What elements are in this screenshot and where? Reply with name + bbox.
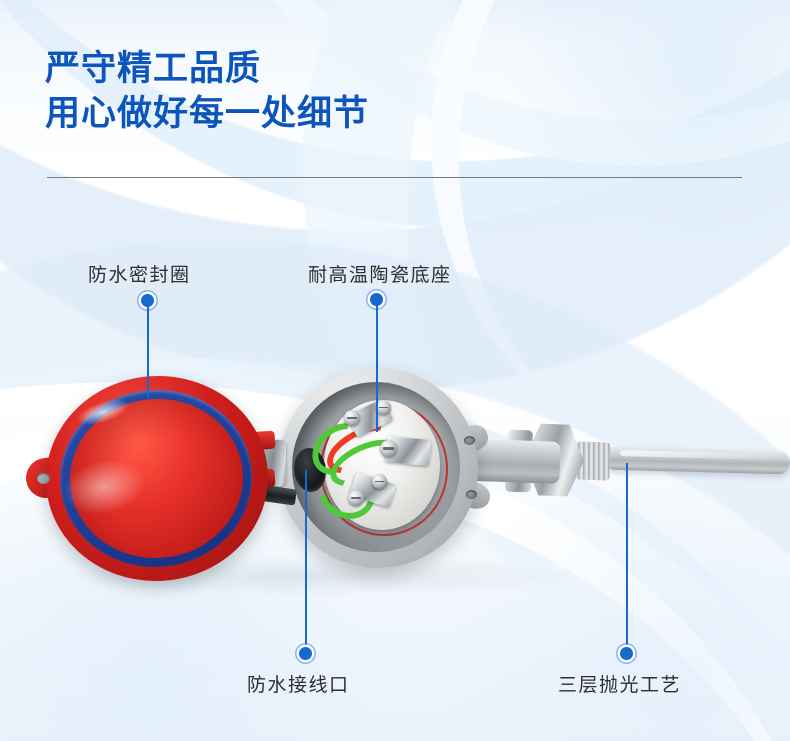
- callout-line-waterproof-seal-ring: [147, 300, 149, 398]
- callout-label-waterproof-seal-ring: 防水密封圈: [88, 260, 191, 287]
- callout-line-high-temp-ceramic-base: [376, 299, 378, 432]
- callout-dot-waterproof-cable-entry: [299, 647, 312, 660]
- headline-line-1: 严守精工品质: [45, 47, 369, 92]
- callout-line-triple-polish-process: [626, 463, 628, 650]
- header-divider: [47, 177, 742, 178]
- callout-label-high-temp-ceramic-base: 耐高温陶瓷底座: [308, 260, 452, 287]
- product-feature-banner: 严守精工品质 用心做好每一处细节: [0, 0, 790, 741]
- callout-line-waterproof-cable-entry: [305, 470, 307, 650]
- callout-label-waterproof-cable-entry: 防水接线口: [247, 670, 350, 697]
- callout-dot-triple-polish-process: [620, 647, 633, 660]
- headline-line-2: 用心做好每一处细节: [45, 92, 369, 137]
- background-glow-top-right: [490, 0, 790, 280]
- background-glow-bottom-left: [0, 461, 390, 741]
- background-glow-bottom-right: [420, 451, 790, 741]
- callout-label-triple-polish-process: 三层抛光工艺: [558, 670, 681, 697]
- headline-block: 严守精工品质 用心做好每一处细节: [45, 47, 369, 137]
